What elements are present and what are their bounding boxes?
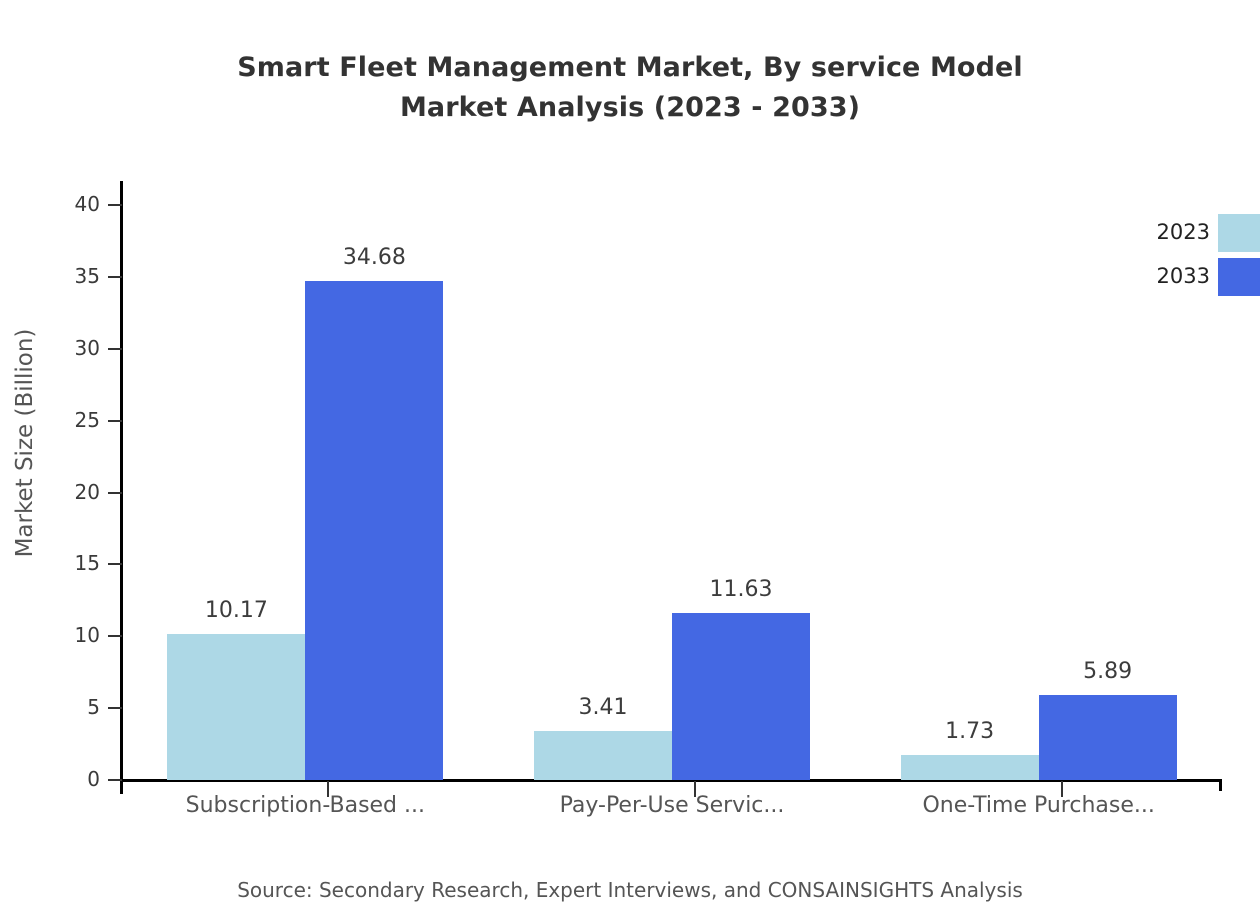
legend-swatch-2023 bbox=[1218, 214, 1260, 252]
y-tick-35 bbox=[108, 276, 122, 278]
x-category-label-2: One-Time Purchase... bbox=[839, 793, 1239, 818]
y-tick-15 bbox=[108, 563, 122, 565]
bar-2023-1[interactable] bbox=[534, 731, 672, 780]
bar-value-2023-0: 10.17 bbox=[137, 598, 335, 623]
y-tick-10 bbox=[108, 635, 122, 637]
chart-legend: 2023 2033 bbox=[1110, 214, 1260, 296]
y-tick-25 bbox=[108, 420, 122, 422]
y-tick-40 bbox=[108, 204, 122, 206]
chart-subtitle: Market Analysis (2023 - 2033) bbox=[0, 88, 1260, 128]
y-tick-20 bbox=[108, 492, 122, 494]
legend-item-2033[interactable]: 2033 bbox=[1110, 258, 1260, 296]
y-tick-5 bbox=[108, 707, 122, 709]
legend-item-2023[interactable]: 2023 bbox=[1110, 214, 1260, 252]
chart-title-line1: Smart Fleet Management Market, By servic… bbox=[237, 52, 1023, 83]
bar-2023-0[interactable] bbox=[167, 634, 305, 780]
bar-value-2033-2: 5.89 bbox=[1009, 659, 1207, 684]
bar-value-2033-1: 11.63 bbox=[642, 577, 840, 602]
bars-layer bbox=[122, 181, 1222, 780]
chart-title: Smart Fleet Management Market, By servic… bbox=[0, 48, 1260, 128]
legend-label-2033: 2033 bbox=[1110, 264, 1210, 288]
chart-figure: Smart Fleet Management Market, By servic… bbox=[0, 0, 1260, 920]
bar-2023-2[interactable] bbox=[901, 755, 1039, 780]
y-tick-30 bbox=[108, 348, 122, 350]
y-tick-label-5: 5 bbox=[0, 697, 100, 717]
x-category-label-1: Pay-Per-Use Servic... bbox=[472, 793, 872, 818]
bar-value-2023-1: 3.41 bbox=[504, 695, 702, 720]
bar-value-2033-0: 34.68 bbox=[275, 245, 473, 270]
y-tick-label-0: 0 bbox=[0, 769, 100, 789]
y-axis-title: Market Size (Billion) bbox=[12, 233, 38, 653]
x-axis-end-tick bbox=[1219, 779, 1222, 791]
bar-2033-0[interactable] bbox=[305, 281, 443, 780]
legend-label-2023: 2023 bbox=[1110, 220, 1210, 244]
x-category-label-0: Subscription-Based ... bbox=[105, 793, 505, 818]
legend-swatch-2033 bbox=[1218, 258, 1260, 296]
source-note: Source: Secondary Research, Expert Inter… bbox=[0, 878, 1260, 902]
bar-value-2023-2: 1.73 bbox=[871, 719, 1069, 744]
y-tick-0 bbox=[108, 779, 122, 781]
y-tick-label-40: 40 bbox=[0, 194, 100, 214]
